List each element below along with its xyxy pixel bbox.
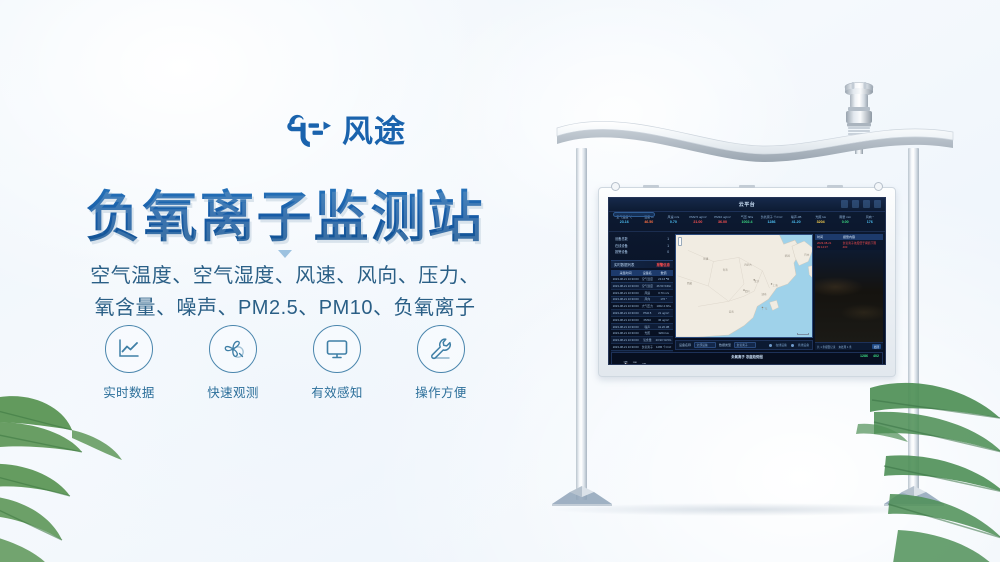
- table-cell: 2023-08-21 10:30:00: [611, 310, 640, 317]
- metric-value: 1002.4: [735, 220, 760, 225]
- map-filter-bar[interactable]: 设备名称 全部设备 数据类型 负氧离子 在线设备 离线设备: [675, 340, 813, 350]
- dashboard-header: 云平台: [609, 198, 885, 212]
- monitor-icon: [324, 337, 350, 361]
- table-cell: 氧含量: [640, 337, 654, 344]
- ground-shadow: [554, 503, 934, 516]
- alert-col-content: 报警内容: [843, 235, 855, 239]
- feature-realtime-data[interactable]: 实时数据: [100, 325, 158, 401]
- svg-text:1240: 1240: [633, 362, 637, 364]
- right-column: 时间 报警内容 2023-08-21 09:14:07 负氧离子浓度低于阈值下限…: [815, 234, 883, 350]
- device-stat-row: 报警设备0: [615, 249, 669, 256]
- metric-tile: 光照 lux3204: [808, 215, 833, 231]
- trend-min-value: 402: [873, 354, 879, 358]
- metric-value: 0.70: [661, 220, 686, 225]
- alert-time: 2023-08-21 09:14:07: [817, 241, 843, 249]
- alert-unhandled: 未处理 1 条: [838, 345, 851, 349]
- feature-list: 实时数据 快速观测: [100, 325, 470, 401]
- feature-easy-operation[interactable]: 操作方便: [412, 325, 470, 401]
- page-title: 负氧离子监测站: [0, 172, 570, 252]
- line-chart-icon: [116, 337, 142, 361]
- left-column: 设备总数1在线设备1报警设备0 实时数据列表 报警信息 采集时间设备名数值 20…: [611, 234, 673, 350]
- svg-text:西藏: 西藏: [687, 281, 693, 285]
- metric-tile: 噪声 dB41.20: [784, 215, 809, 231]
- settings-icon[interactable]: [863, 200, 870, 208]
- data-panel-title: 实时数据列表: [614, 262, 634, 267]
- svg-text:日本: 日本: [804, 252, 810, 256]
- metric-value: 36.00: [710, 220, 735, 225]
- table-cell: 2023-08-21 10:30:00: [611, 303, 640, 310]
- camera-feed-panel[interactable]: [815, 250, 883, 342]
- table-row[interactable]: 2023-08-21 10:30:00PM1036 ug/m³: [611, 316, 673, 323]
- svg-text:湖南: 湖南: [761, 292, 767, 296]
- filter-label-datatype: 数据类型: [719, 343, 731, 347]
- table-cell: 大气压力: [640, 303, 654, 310]
- dashboard-title: 云平台: [739, 201, 756, 208]
- table-cell: 风速: [640, 289, 654, 296]
- device-stat-label: 报警设备: [615, 249, 628, 256]
- metric-label: 负氧离子 个/cm³: [759, 215, 784, 220]
- device-stat-value: 1: [667, 243, 669, 250]
- svg-text:四川: 四川: [745, 289, 751, 293]
- table-cell: PM2.5: [640, 310, 654, 317]
- wave-canopy: [555, 118, 955, 166]
- alarm-label[interactable]: 报警信息: [656, 262, 670, 267]
- metric-tile: 气压 hPa1002.4: [735, 215, 760, 231]
- table-row[interactable]: 2023-08-21 10:30:00氧含量20.90 %VOL: [611, 337, 673, 344]
- device-stat-row: 在线设备1: [615, 243, 669, 250]
- legend-offline-label: 离线设备: [798, 343, 809, 347]
- svg-text:1180: 1180: [642, 363, 646, 365]
- table-cell: 36 ug/m³: [654, 316, 673, 323]
- fengtu-cloud-logo-icon: [287, 114, 333, 148]
- trend-chart-plot: 128608-21 00:00124008-21 00:30118008-21 …: [612, 360, 882, 365]
- device-stat-row: 设备总数1: [615, 236, 669, 243]
- promo-text-panel: 风途 负氧离子监测站 负氧离子监测站 空气温度、空气湿度、风速、风向、压力、 氧…: [0, 0, 570, 562]
- metric-tile: 风向 °176: [857, 215, 882, 231]
- trend-chart-title: 负氧离子 浓度趋势图: [731, 354, 762, 359]
- metric-value: 46.50: [637, 220, 662, 225]
- table-cell: 20.90 %VOL: [654, 337, 673, 344]
- svg-text:云南: 云南: [729, 310, 735, 314]
- metric-value: 176: [857, 220, 882, 225]
- metric-value: 21.00: [686, 220, 711, 225]
- table-cell: 2023-08-21 10:30:00: [611, 289, 640, 296]
- realtime-data-table[interactable]: 采集时间设备名数值 2023-08-21 10:30:00空气温度23.16 ℃…: [611, 270, 673, 364]
- metric-tile: 风速 m/s0.70: [661, 215, 686, 231]
- svg-text:上海: 上海: [773, 283, 779, 287]
- divider-arrow-icon: [278, 250, 292, 258]
- feature-label: 有效感知: [308, 382, 366, 401]
- table-cell: 0.70 m/s: [654, 289, 673, 296]
- metric-value: 41.20: [784, 220, 809, 225]
- subtitle: 空气温度、空气湿度、风速、风向、压力、 氧含量、噪声、PM2.5、PM10、负氧…: [0, 260, 570, 325]
- metric-tile: 湿度 %46.50: [637, 215, 662, 231]
- alert-content: 负氧离子浓度低于阈值下限 400: [843, 241, 881, 249]
- table-row[interactable]: 2023-08-21 10:30:00负氧离子1286 个/cm³: [611, 343, 673, 350]
- legend-online-label: 在线设备: [776, 343, 787, 347]
- feature-icon-wrap: [105, 325, 153, 373]
- alert-total: 共 1 条报警记录: [817, 345, 835, 349]
- svg-text:新疆: 新疆: [703, 256, 709, 260]
- map-scale-bar: [797, 333, 809, 335]
- table-row[interactable]: 2023-08-21 10:30:00光照3204 lux: [611, 330, 673, 337]
- svg-text:北京: 北京: [754, 279, 760, 283]
- wrench-icon: [428, 336, 454, 362]
- table-cell: 2023-08-21 10:30:00: [611, 323, 640, 330]
- metric-tile: 负氧离子 个/cm³1286: [759, 215, 784, 231]
- table-cell: 2023-08-21 10:30:00: [611, 296, 640, 303]
- table-cell: 空气湿度: [640, 282, 654, 289]
- feature-icon-wrap: [417, 325, 465, 373]
- device-stat-value: 0: [667, 249, 669, 256]
- metric-tile: 雨量 mm0.00: [833, 215, 858, 231]
- brand-logo: 风途: [287, 114, 406, 148]
- subtitle-line-2: 氧含量、噪声、PM2.5、PM10、负氧离子: [0, 292, 570, 324]
- svg-text:广东: 广东: [762, 306, 768, 310]
- table-row[interactable]: 2023-08-21 10:30:00PM2.521 ug/m³: [611, 310, 673, 317]
- table-cell: 1002.4 hPa: [654, 303, 673, 310]
- device-stat-label: 设备总数: [615, 236, 628, 243]
- alert-col-time: 时间: [817, 235, 843, 239]
- table-row[interactable]: 2023-08-21 10:30:00风向176 °: [611, 296, 673, 303]
- table-row[interactable]: 2023-08-21 10:30:00大气压力1002.4 hPa: [611, 303, 673, 310]
- east-asia-map-graphic: 新疆青海 内蒙古北京 四川湖南 上海广东 西藏云南 韩国日本: [676, 235, 812, 337]
- metric-tile: PM10 ug/m³36.00: [710, 215, 735, 231]
- table-cell: 2023-08-21 10:30:00: [611, 330, 640, 337]
- radar-fan-icon: [220, 336, 246, 362]
- monitoring-kiosk: 云平台 空气温度 ℃23.16湿度 %46.50风速 m/s0.70PM2.5 …: [510, 0, 1000, 562]
- device-stat-value: 1: [667, 236, 669, 243]
- housing-vent: [827, 185, 843, 188]
- table-cell: 3204 lux: [654, 330, 673, 337]
- table-row[interactable]: 2023-08-21 10:30:00风速0.70 m/s: [611, 289, 673, 296]
- feature-label: 实时数据: [100, 382, 158, 401]
- svg-text:韩国: 韩国: [785, 253, 791, 257]
- table-cell: 176 °: [654, 296, 673, 303]
- metric-tile: 空气温度 ℃23.16: [612, 215, 637, 231]
- mount-hook-icon: [611, 182, 620, 191]
- table-cell: 46.50 %RH: [654, 282, 673, 289]
- metric-value: 0.00: [833, 220, 858, 225]
- alert-row[interactable]: 2023-08-21 09:14:07 负氧离子浓度低于阈值下限 400: [815, 240, 883, 250]
- dashboard-toolbar[interactable]: [841, 200, 881, 208]
- metric-tile: PM2.5 ug/m³21.00: [686, 215, 711, 231]
- svg-text:内蒙古: 内蒙古: [744, 263, 752, 267]
- housing-vent: [643, 185, 659, 188]
- alert-handle-button[interactable]: 处理: [872, 344, 881, 349]
- dashboard-body: 设备总数1在线设备1报警设备0 实时数据列表 报警信息 采集时间设备名数值 20…: [609, 232, 885, 352]
- table-cell: 2023-08-21 10:30:00: [611, 337, 640, 344]
- table-cell: 41.20 dB: [654, 323, 673, 330]
- metric-value: 3204: [808, 220, 833, 225]
- metric-value: 23.16: [612, 220, 637, 225]
- table-cell: 2023-08-21 10:30:00: [611, 282, 640, 289]
- feature-icon-wrap: [209, 325, 257, 373]
- map-legend-icons: 在线设备 离线设备: [769, 343, 809, 347]
- svg-text:青海: 青海: [723, 268, 729, 272]
- mount-hook-icon: [874, 182, 883, 191]
- subtitle-line-1: 空气温度、空气湿度、风速、风向、压力、: [0, 260, 570, 292]
- table-row[interactable]: 2023-08-21 10:30:00空气湿度46.50 %RH: [611, 282, 673, 289]
- trend-data-point: 128608-21 00:00: [618, 361, 627, 365]
- data-panel-header: 实时数据列表 报警信息: [611, 260, 673, 268]
- dashboard-tab-station[interactable]: [613, 212, 655, 217]
- feature-icon-wrap: [313, 325, 361, 373]
- map-zoom-control[interactable]: [678, 237, 682, 246]
- brand-name: 风途: [342, 116, 406, 147]
- trend-chart[interactable]: 负氧离子 浓度趋势图 1286 402 128608-21 00:0012400…: [611, 352, 883, 365]
- center-column: 新疆青海 内蒙古北京 四川湖南 上海广东 西藏云南 韩国日本: [675, 234, 813, 350]
- feature-label: 快速观测: [204, 382, 262, 401]
- trend-data-point: 118008-21 01:00: [637, 363, 646, 365]
- bell-icon[interactable]: [852, 200, 859, 208]
- trend-max-value: 1286: [860, 354, 868, 358]
- device-stat-label: 在线设备: [615, 243, 628, 250]
- support-post-right: [908, 148, 919, 500]
- device-map[interactable]: 新疆青海 内蒙古北京 四川湖南 上海广东 西藏云南 韩国日本: [675, 234, 813, 338]
- display-housing: 云平台 空气温度 ℃23.16湿度 %46.50风速 m/s0.70PM2.5 …: [598, 187, 896, 377]
- table-row[interactable]: 2023-08-21 10:30:00噪声41.20 dB: [611, 323, 673, 330]
- housing-vent: [739, 185, 755, 188]
- table-cell: 噪声: [640, 323, 654, 330]
- legend-dot-online: [769, 344, 772, 347]
- trend-chart-readout: 1286 402: [860, 354, 879, 358]
- feature-label: 操作方便: [412, 382, 470, 401]
- legend-dot-offline: [791, 344, 794, 347]
- user-icon[interactable]: [841, 200, 848, 208]
- alert-footer: 共 1 条报警记录 未处理 1 条 处理: [815, 342, 883, 350]
- table-cell: PM10: [640, 316, 654, 323]
- metric-value: 1286: [759, 220, 784, 225]
- dashboard-screen[interactable]: 云平台 空气温度 ℃23.16湿度 %46.50风速 m/s0.70PM2.5 …: [608, 197, 886, 365]
- feature-fast-observation[interactable]: 快速观测: [204, 325, 262, 401]
- table-cell: 风向: [640, 296, 654, 303]
- feature-effective-sensing[interactable]: 有效感知: [308, 325, 366, 401]
- support-post-left: [576, 148, 587, 500]
- table-cell: 2023-08-21 10:30:00: [611, 316, 640, 323]
- trend-data-point: 124008-21 00:30: [628, 362, 637, 365]
- device-stats: 设备总数1在线设备1报警设备0: [611, 234, 673, 258]
- table-cell: 1286 个/cm³: [654, 343, 673, 350]
- filter-select-datatype[interactable]: 负氧离子: [734, 342, 756, 348]
- svg-text:1286: 1286: [623, 361, 627, 363]
- filter-select-device[interactable]: 全部设备: [694, 342, 716, 348]
- table-cell: 21 ug/m³: [654, 310, 673, 317]
- table-cell: 负氧离子: [640, 343, 654, 350]
- filter-label-device: 设备名称: [679, 343, 691, 347]
- table-cell: 光照: [640, 330, 654, 337]
- table-cell: 2023-08-21 10:30:00: [611, 343, 640, 350]
- fullscreen-icon[interactable]: [874, 200, 881, 208]
